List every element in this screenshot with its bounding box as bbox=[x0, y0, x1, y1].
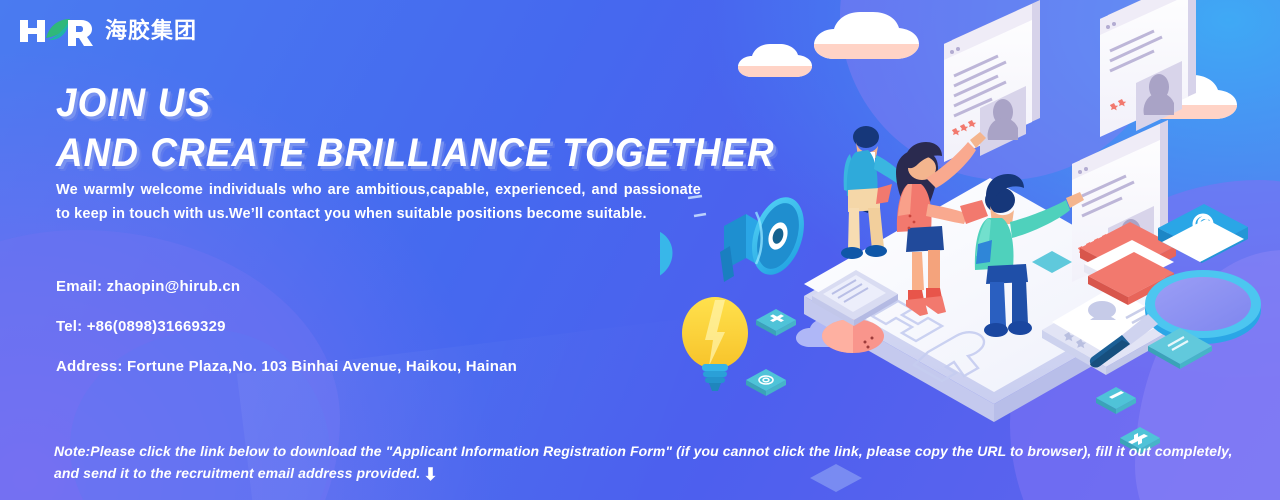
page-title: JOIN US AND CREATE BRILLIANCE TOGETHER bbox=[56, 78, 756, 178]
contact-tel: Tel: +86(0898)31669329 bbox=[56, 317, 756, 337]
download-arrow-icon[interactable]: ⬇ bbox=[423, 464, 437, 486]
icon-tile-close bbox=[756, 309, 796, 336]
headline-line-1: JOIN US bbox=[56, 78, 700, 128]
resume-card bbox=[944, 0, 1040, 162]
footer-note-text: Note:Please click the link below to down… bbox=[54, 443, 1232, 481]
headline-line-2: AND CREATE BRILLIANCE TOGETHER bbox=[56, 128, 700, 178]
logo-company-name: 海胶集团 bbox=[105, 16, 197, 46]
intro-paragraph: We warmly welcome individuals who are am… bbox=[56, 178, 701, 226]
cloud-icon bbox=[814, 12, 919, 59]
megaphone-icon bbox=[720, 191, 813, 282]
contact-email[interactable]: Email: zhaopin@hirub.cn bbox=[56, 277, 756, 297]
logo-mark-hr bbox=[18, 16, 96, 46]
cloud-icon bbox=[738, 44, 812, 77]
contact-block: Email: zhaopin@hirub.cn Tel: +86(0898)31… bbox=[56, 277, 756, 397]
recruitment-banner: 海胶集团 JOIN US AND CREATE BRILLIANCE TOGET… bbox=[0, 0, 1280, 500]
contact-address: Address: Fortune Plaza,No. 103 Binhai Av… bbox=[56, 357, 756, 377]
footer-note: Note:Please click the link below to down… bbox=[54, 440, 1259, 486]
brand-logo[interactable]: 海胶集团 bbox=[18, 16, 197, 46]
hr-isometric-illustration bbox=[660, 0, 1280, 500]
icon-tile-minus bbox=[1096, 387, 1136, 414]
leaf-shape bbox=[660, 228, 672, 281]
